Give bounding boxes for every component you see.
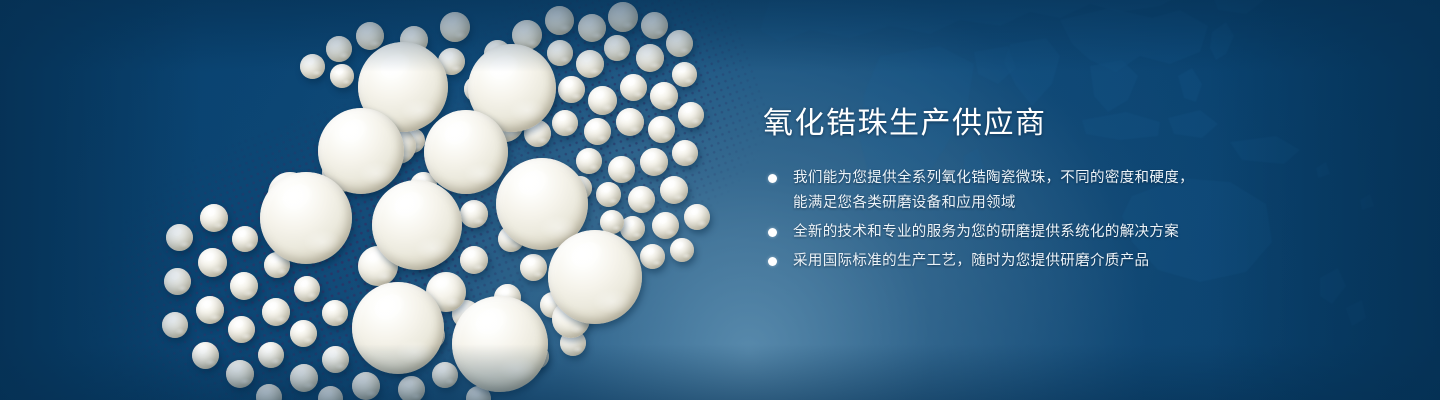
banner-edge-vignette: [0, 0, 1440, 400]
hero-banner: 氧化锆珠生产供应商 我们能为您提供全系列氧化锆陶瓷微珠，不同的密度和硬度， 能满…: [0, 0, 1440, 400]
